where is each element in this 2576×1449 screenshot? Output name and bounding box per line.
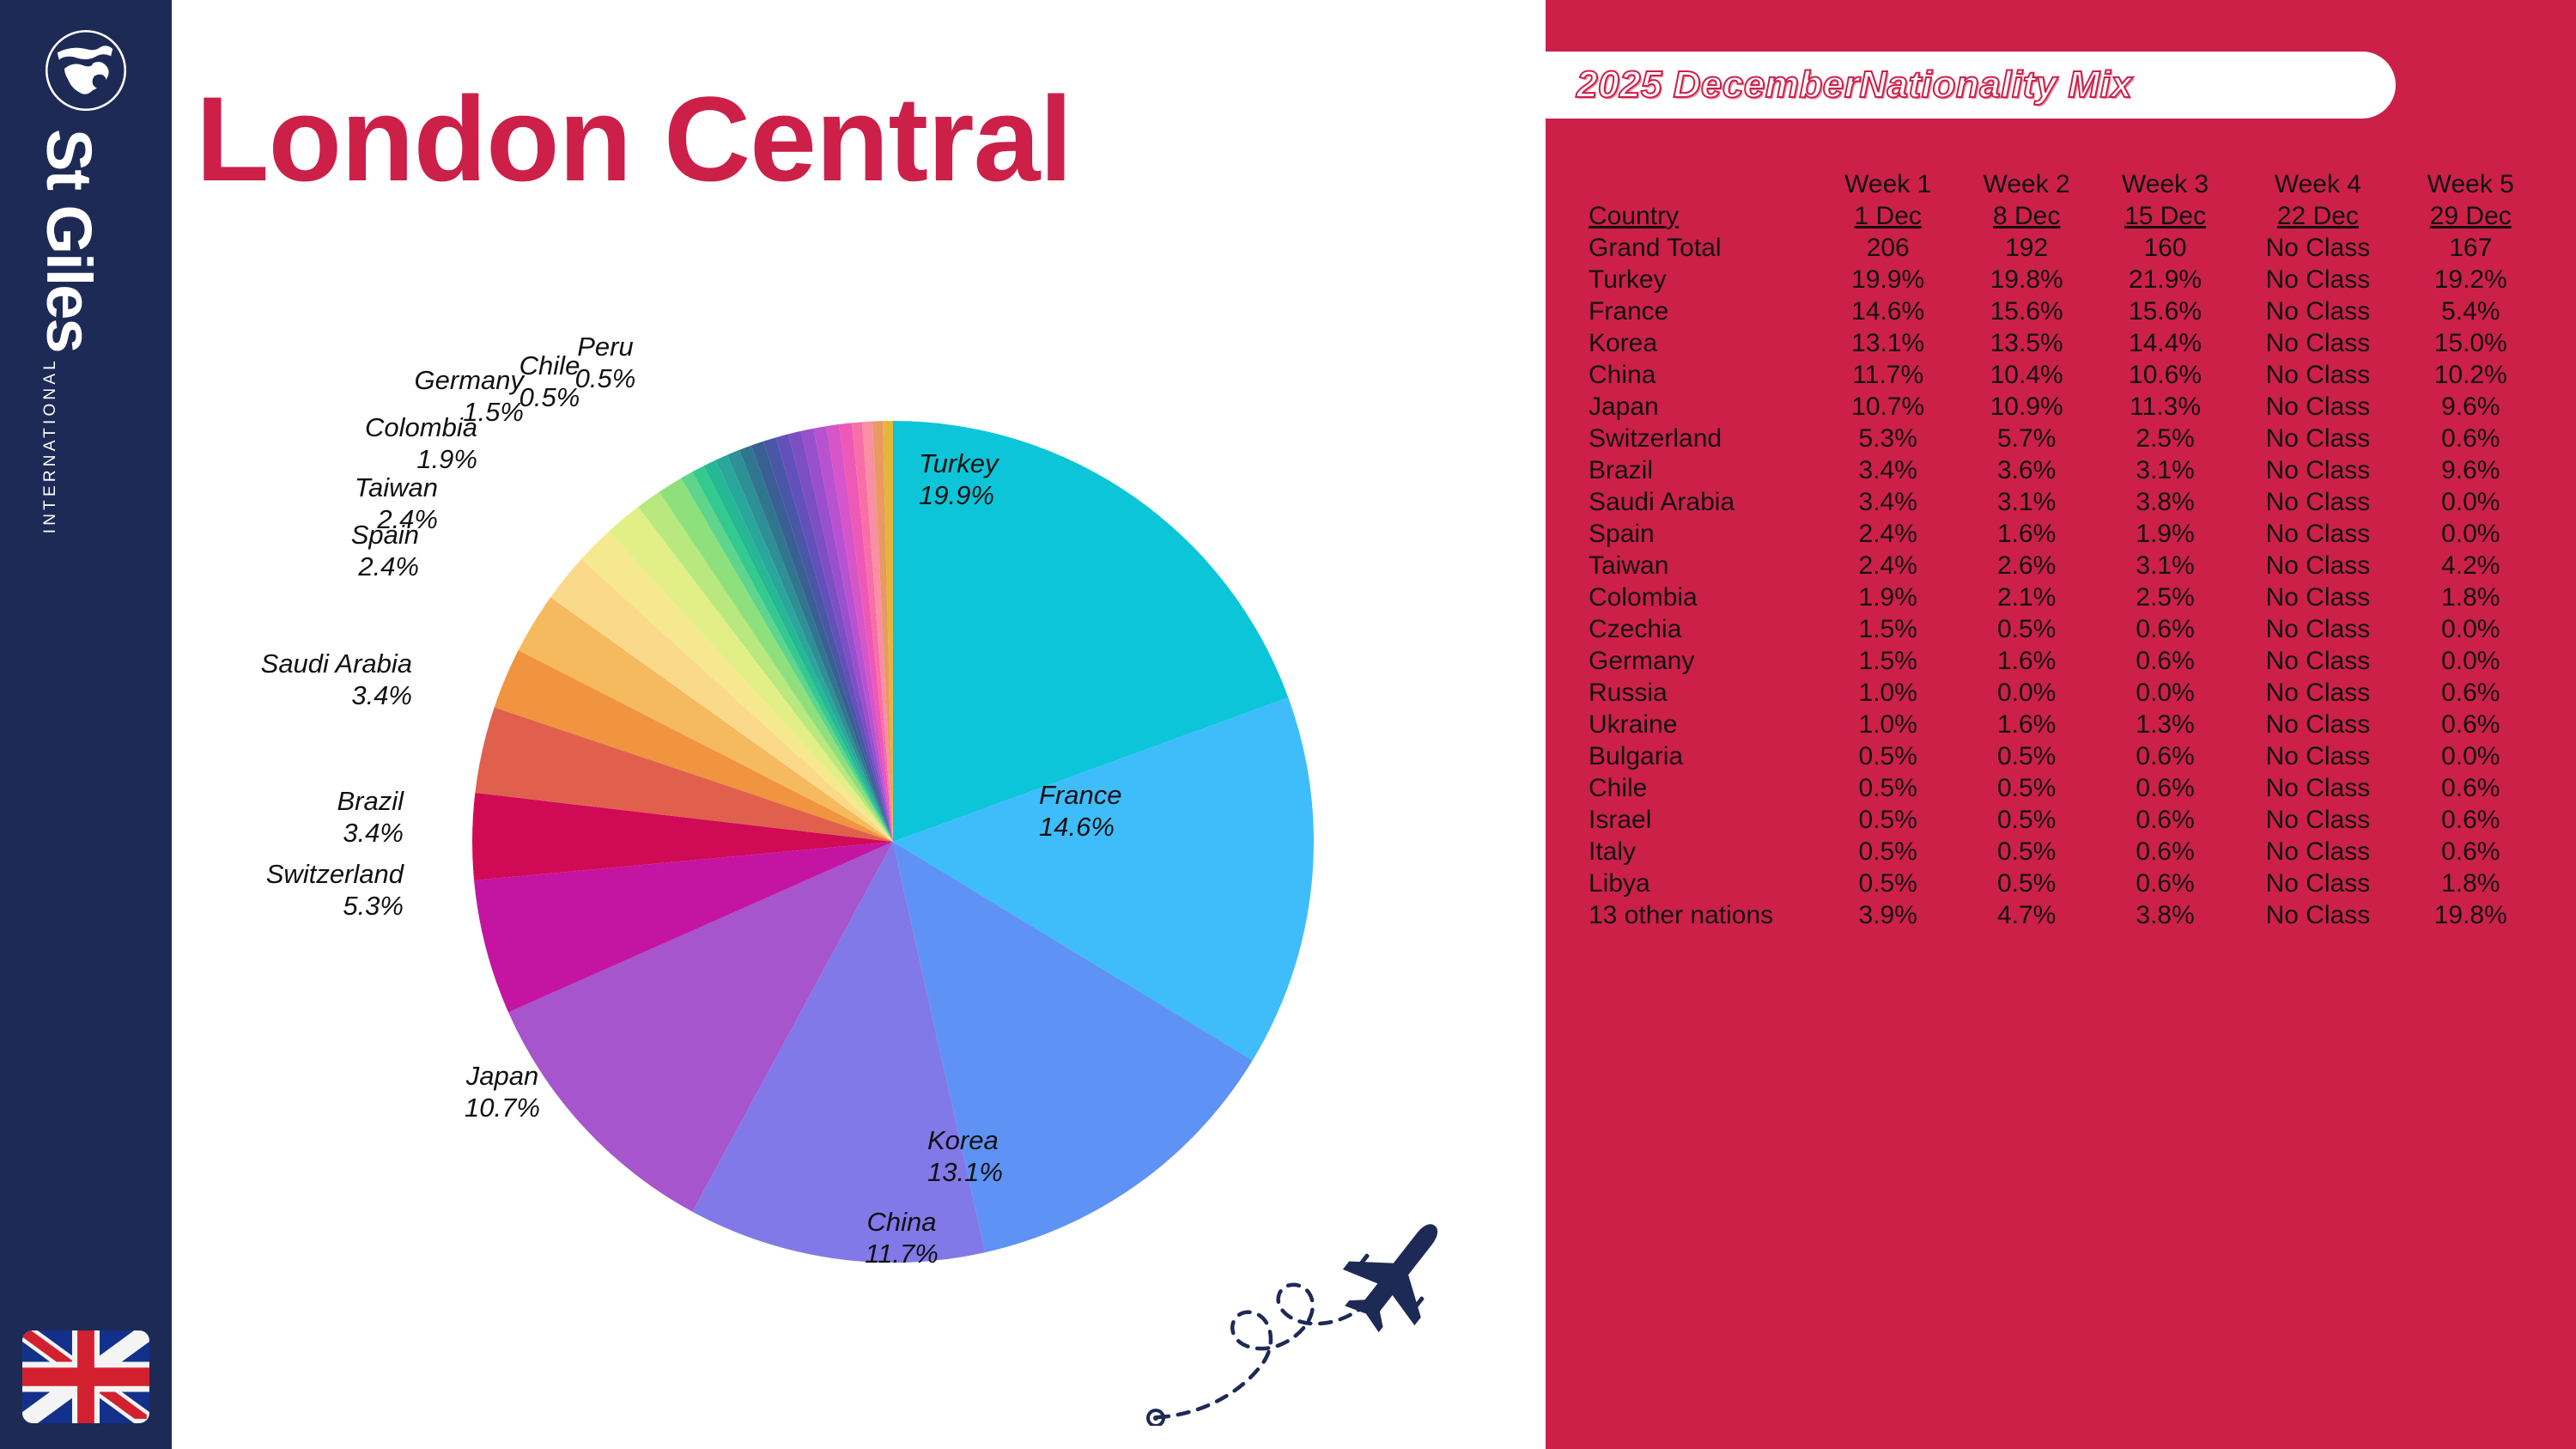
page-title: London Central	[196, 79, 1072, 199]
row-label: 13 other nations	[1587, 899, 1819, 931]
pie-chart-svg	[438, 387, 1348, 1297]
table-row: Saudi Arabia3.4%3.1%3.8%No Class0.0%	[1587, 486, 2540, 518]
cell-week-3: 160	[2096, 232, 2234, 264]
table-row: Czechia1.5%0.5%0.6%No Class0.0%	[1587, 613, 2540, 645]
table-row: Japan10.7%10.9%11.3%No Class9.6%	[1587, 391, 2540, 423]
row-label: Taiwan	[1587, 550, 1819, 581]
brand-sidebar: St Giles INTERNATIONAL	[0, 0, 172, 1449]
uk-flag-icon	[22, 1330, 149, 1423]
cell-week-3: 11.3%	[2096, 391, 2234, 423]
cell-week-2: 2.1%	[1957, 581, 2095, 613]
cell-week-4: No Class	[2234, 359, 2401, 391]
cell-week-4: No Class	[2234, 518, 2401, 550]
cell-week-2: 13.5%	[1957, 327, 2095, 359]
cell-week-4: No Class	[2234, 454, 2401, 486]
table-row: Korea13.1%13.5%14.4%No Class15.0%	[1587, 327, 2540, 359]
pie-label-saudi-arabia: Saudi Arabia 3.4%	[137, 648, 412, 711]
cell-week-4: No Class	[2234, 486, 2401, 518]
cell-week-3: 0.6%	[2096, 613, 2234, 645]
table-row: Switzerland5.3%5.7%2.5%No Class0.6%	[1587, 423, 2540, 454]
table-row: Colombia1.9%2.1%2.5%No Class1.8%	[1587, 581, 2540, 613]
row-label: Libya	[1587, 868, 1819, 899]
cell-week-1: 1.0%	[1819, 709, 1957, 740]
cell-week-3: 0.6%	[2096, 868, 2234, 899]
row-label: Bulgaria	[1587, 740, 1819, 772]
cell-week-1: 1.9%	[1819, 581, 1957, 613]
pie-label-brazil: Brazil 3.4%	[189, 786, 404, 849]
cell-week-4: No Class	[2234, 804, 2401, 836]
table-week-header-row: Week 1Week 2Week 3Week 4Week 5	[1587, 168, 2540, 200]
cell-week-1: 2.4%	[1819, 518, 1957, 550]
cell-week-3: 2.5%	[2096, 423, 2234, 454]
cell-week-1: 11.7%	[1819, 359, 1957, 391]
nationality-table: Week 1Week 2Week 3Week 4Week 5Country1 D…	[1587, 168, 2540, 931]
panel-title-pill: 2025 DecemberNationality Mix	[1546, 52, 2396, 119]
cell-week-5: 10.2%	[2402, 359, 2540, 391]
table-row: Russia1.0%0.0%0.0%No Class0.6%	[1587, 677, 2540, 709]
cell-week-2: 0.0%	[1957, 677, 2095, 709]
pie-label-france: France 14.6%	[1039, 780, 1121, 843]
cell-week-2: 1.6%	[1957, 709, 2095, 740]
cell-week-1: 5.3%	[1819, 423, 1957, 454]
cell-week-5: 5.4%	[2402, 295, 2540, 327]
cell-week-3: 21.9%	[2096, 264, 2234, 295]
table-date-header-row: Country1 Dec8 Dec15 Dec22 Dec29 Dec	[1587, 200, 2540, 232]
cell-week-3: Week 3	[2096, 168, 2234, 200]
row-label: Colombia	[1587, 581, 1819, 613]
row-label: Saudi Arabia	[1587, 486, 1819, 518]
cell-week-1: Week 1	[1819, 168, 1957, 200]
brand-logo-name: St Giles	[41, 129, 97, 352]
airplane-icon	[1326, 1197, 1470, 1347]
cell-week-2: 15.6%	[1957, 295, 2095, 327]
cell-week-5: 0.6%	[2402, 677, 2540, 709]
cell-week-5: 9.6%	[2402, 391, 2540, 423]
cell-week-4: No Class	[2234, 740, 2401, 772]
table-row: Bulgaria0.5%0.5%0.6%No Class0.0%	[1587, 740, 2540, 772]
pie-slices	[472, 421, 1314, 1263]
cell-week-4: No Class	[2234, 264, 2401, 295]
cell-week-3: 14.4%	[2096, 327, 2234, 359]
row-label: Grand Total	[1587, 232, 1819, 264]
cell-week-2: 1.6%	[1957, 645, 2095, 677]
cell-week-5: 0.6%	[2402, 836, 2540, 868]
cell-week-4: No Class	[2234, 423, 2401, 454]
cell-week-5: 0.6%	[2402, 804, 2540, 836]
pie-label-japan: Japan 10.7%	[425, 1061, 580, 1123]
cell-week-1: 13.1%	[1819, 327, 1957, 359]
cell-week-5: 0.0%	[2402, 518, 2540, 550]
heart-dashed-trail-icon	[1157, 1278, 1389, 1417]
cell-week-3: 15 Dec	[2096, 200, 2234, 232]
cell-week-5: 167	[2402, 232, 2540, 264]
row-label: Brazil	[1587, 454, 1819, 486]
cell-week-1: 0.5%	[1819, 740, 1957, 772]
cell-week-5: 1.8%	[2402, 868, 2540, 899]
cell-week-5: 0.6%	[2402, 772, 2540, 804]
pie-label-turkey: Turkey 19.9%	[919, 448, 998, 511]
table-row: Brazil3.4%3.6%3.1%No Class9.6%	[1587, 454, 2540, 486]
cell-week-2: 1.6%	[1957, 518, 2095, 550]
table-row: Germany1.5%1.6%0.6%No Class0.0%	[1587, 645, 2540, 677]
cell-week-1: 0.5%	[1819, 772, 1957, 804]
globe-icon	[41, 26, 131, 115]
cell-week-2: 4.7%	[1957, 899, 2095, 931]
cell-week-5: 29 Dec	[2402, 200, 2540, 232]
table-body: Week 1Week 2Week 3Week 4Week 5Country1 D…	[1587, 168, 2540, 931]
row-label	[1587, 168, 1819, 200]
row-label: Chile	[1587, 772, 1819, 804]
cell-week-5: 9.6%	[2402, 454, 2540, 486]
row-label: France	[1587, 295, 1819, 327]
cell-week-3: 0.6%	[2096, 740, 2234, 772]
cell-week-3: 0.6%	[2096, 772, 2234, 804]
cell-week-4: No Class	[2234, 550, 2401, 581]
row-label: Spain	[1587, 518, 1819, 550]
table-row: Ukraine1.0%1.6%1.3%No Class0.6%	[1587, 709, 2540, 740]
cell-week-5: 1.8%	[2402, 581, 2540, 613]
table-row: Libya0.5%0.5%0.6%No Class1.8%	[1587, 868, 2540, 899]
row-label: Switzerland	[1587, 423, 1819, 454]
table-other-nations-row: 13 other nations3.9%4.7%3.8%No Class19.8…	[1587, 899, 2540, 931]
cell-week-5: 0.0%	[2402, 613, 2540, 645]
cell-week-4: No Class	[2234, 772, 2401, 804]
brand-logo: St Giles INTERNATIONAL	[41, 129, 131, 490]
cell-week-4: No Class	[2234, 709, 2401, 740]
cell-week-2: 3.6%	[1957, 454, 2095, 486]
cell-week-3: 3.1%	[2096, 550, 2234, 581]
airplane-illustration	[1142, 1168, 1503, 1426]
cell-week-1: 0.5%	[1819, 804, 1957, 836]
cell-week-5: 4.2%	[2402, 550, 2540, 581]
cell-week-4: No Class	[2234, 645, 2401, 677]
table-row: Chile0.5%0.5%0.6%No Class0.6%	[1587, 772, 2540, 804]
cell-week-3: 0.6%	[2096, 645, 2234, 677]
cell-week-1: 2.4%	[1819, 550, 1957, 581]
cell-week-4: No Class	[2234, 232, 2401, 264]
pie-label-china: China 11.7%	[833, 1207, 970, 1269]
cell-week-3: 3.8%	[2096, 486, 2234, 518]
cell-week-2: 0.5%	[1957, 868, 2095, 899]
cell-week-4: No Class	[2234, 295, 2401, 327]
cell-week-3: 1.9%	[2096, 518, 2234, 550]
row-label: Turkey	[1587, 264, 1819, 295]
table-row: Turkey19.9%19.8%21.9%No Class19.2%	[1587, 264, 2540, 295]
pie-label-switzerland: Switzerland 5.3%	[137, 859, 404, 922]
cell-week-2: 10.4%	[1957, 359, 2095, 391]
pie-label-peru: Peru 0.5%	[558, 332, 653, 394]
cell-week-1: 10.7%	[1819, 391, 1957, 423]
cell-week-2: 0.5%	[1957, 613, 2095, 645]
table-row: Spain2.4%1.6%1.9%No Class0.0%	[1587, 518, 2540, 550]
cell-week-4: 22 Dec	[2234, 200, 2401, 232]
cell-week-5: 0.0%	[2402, 486, 2540, 518]
row-label: Country	[1587, 200, 1819, 232]
cell-week-2: 0.5%	[1957, 740, 2095, 772]
cell-week-3: 2.5%	[2096, 581, 2234, 613]
cell-week-3: 15.6%	[2096, 295, 2234, 327]
cell-week-1: 14.6%	[1819, 295, 1957, 327]
cell-week-4: No Class	[2234, 836, 2401, 868]
row-label: Russia	[1587, 677, 1819, 709]
cell-week-3: 0.0%	[2096, 677, 2234, 709]
row-label: Germany	[1587, 645, 1819, 677]
brand-logo-tagline: INTERNATIONAL	[41, 357, 67, 533]
cell-week-5: 0.6%	[2402, 709, 2540, 740]
cell-week-5: 15.0%	[2402, 327, 2540, 359]
cell-week-4: No Class	[2234, 391, 2401, 423]
cell-week-5: Week 5	[2402, 168, 2540, 200]
row-label: Korea	[1587, 327, 1819, 359]
cell-week-2: 8 Dec	[1957, 200, 2095, 232]
cell-week-5: 19.8%	[2402, 899, 2540, 931]
cell-week-3: 1.3%	[2096, 709, 2234, 740]
cell-week-2: 10.9%	[1957, 391, 2095, 423]
cell-week-4: No Class	[2234, 581, 2401, 613]
cell-week-4: No Class	[2234, 327, 2401, 359]
cell-week-2: 2.6%	[1957, 550, 2095, 581]
cell-week-1: 1.0%	[1819, 677, 1957, 709]
cell-week-5: 0.6%	[2402, 423, 2540, 454]
cell-week-2: 0.5%	[1957, 836, 2095, 868]
cell-week-2: 0.5%	[1957, 804, 2095, 836]
cell-week-1: 3.4%	[1819, 454, 1957, 486]
cell-week-5: 0.0%	[2402, 740, 2540, 772]
pie-label-taiwan: Taiwan 2.4%	[197, 472, 438, 535]
row-label: Japan	[1587, 391, 1819, 423]
pie-label-korea: Korea 13.1%	[927, 1125, 1003, 1188]
cell-week-3: 0.6%	[2096, 804, 2234, 836]
row-label: Israel	[1587, 804, 1819, 836]
cell-week-3: 3.8%	[2096, 899, 2234, 931]
table-grand-total-row: Grand Total206192160No Class167	[1587, 232, 2540, 264]
cell-week-2: 0.5%	[1957, 772, 2095, 804]
cell-week-2: 192	[1957, 232, 2095, 264]
cell-week-5: 19.2%	[2402, 264, 2540, 295]
cell-week-1: 1.5%	[1819, 613, 1957, 645]
cell-week-1: 0.5%	[1819, 868, 1957, 899]
row-label: Ukraine	[1587, 709, 1819, 740]
cell-week-1: 19.9%	[1819, 264, 1957, 295]
row-label: Italy	[1587, 836, 1819, 868]
nationality-mix-panel: 2025 DecemberNationality Mix Week 1Week …	[1546, 0, 2576, 1449]
cell-week-3: 3.1%	[2096, 454, 2234, 486]
cell-week-4: No Class	[2234, 613, 2401, 645]
row-label: China	[1587, 359, 1819, 391]
cell-week-2: 5.7%	[1957, 423, 2095, 454]
cell-week-1: 3.9%	[1819, 899, 1957, 931]
cell-week-2: 3.1%	[1957, 486, 2095, 518]
cell-week-5: 0.0%	[2402, 645, 2540, 677]
cell-week-1: 0.5%	[1819, 836, 1957, 868]
cell-week-1: 1.5%	[1819, 645, 1957, 677]
table-row: China11.7%10.4%10.6%No Class10.2%	[1587, 359, 2540, 391]
cell-week-4: Week 4	[2234, 168, 2401, 200]
row-label: Czechia	[1587, 613, 1819, 645]
cell-week-1: 206	[1819, 232, 1957, 264]
cell-week-1: 1 Dec	[1819, 200, 1957, 232]
cell-week-1: 3.4%	[1819, 486, 1957, 518]
cell-week-4: No Class	[2234, 677, 2401, 709]
cell-week-4: No Class	[2234, 899, 2401, 931]
cell-week-2: 19.8%	[1957, 264, 2095, 295]
pie-label-germany: Germany 1.5%	[266, 365, 524, 428]
table-row: France14.6%15.6%15.6%No Class5.4%	[1587, 295, 2540, 327]
cell-week-4: No Class	[2234, 868, 2401, 899]
cell-week-3: 10.6%	[2096, 359, 2234, 391]
cell-week-2: Week 2	[1957, 168, 2095, 200]
table-row: Taiwan2.4%2.6%3.1%No Class4.2%	[1587, 550, 2540, 581]
panel-title: 2025 DecemberNationality Mix	[1577, 64, 2132, 107]
cell-week-3: 0.6%	[2096, 836, 2234, 868]
table-row: Italy0.5%0.5%0.6%No Class0.6%	[1587, 836, 2540, 868]
table-row: Israel0.5%0.5%0.6%No Class0.6%	[1587, 804, 2540, 836]
